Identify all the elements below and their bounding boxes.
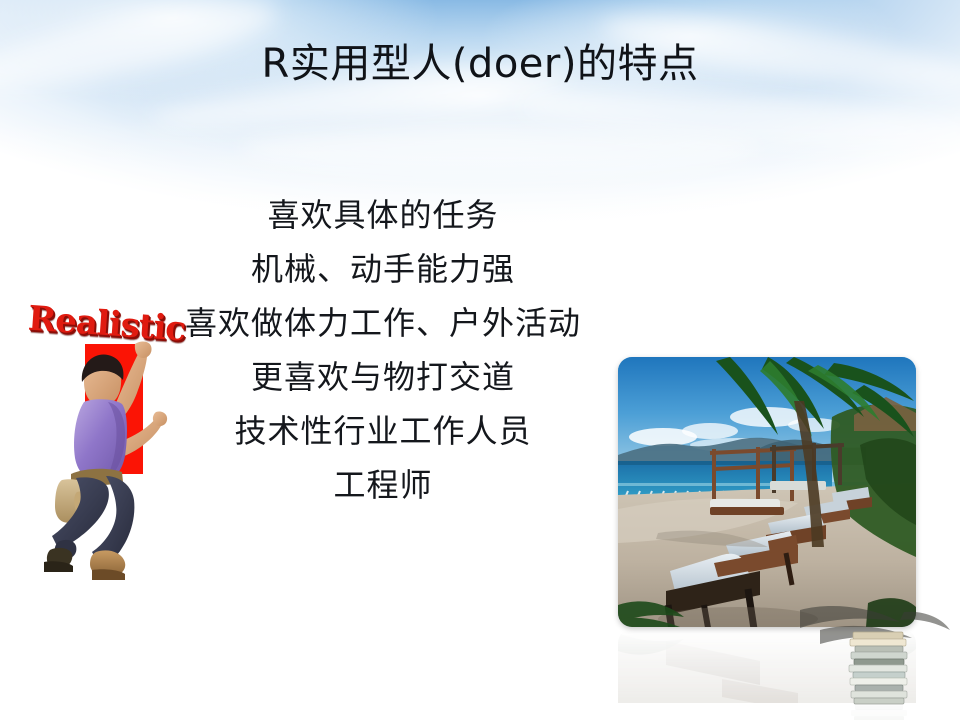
body-line: 机械、动手能力强 (83, 242, 683, 296)
cloud-wisp (519, 80, 960, 160)
body-line: 喜欢具体的任务 (83, 188, 683, 242)
slide-title: R实用型人(doer)的特点 (0, 38, 960, 90)
books-reflection (845, 700, 915, 720)
beach-photo-group (618, 357, 916, 627)
stack-of-books-illustration (845, 628, 915, 710)
cloud-wisp (240, 126, 760, 172)
beach-scene-illustration (618, 357, 916, 627)
beach-photo (618, 357, 916, 627)
realistic-figure-image: Realistic (22, 296, 182, 596)
slide-canvas: R实用型人(doer)的特点 喜欢具体的任务 机械、动手能力强 喜欢做体力工作、… (0, 0, 960, 720)
